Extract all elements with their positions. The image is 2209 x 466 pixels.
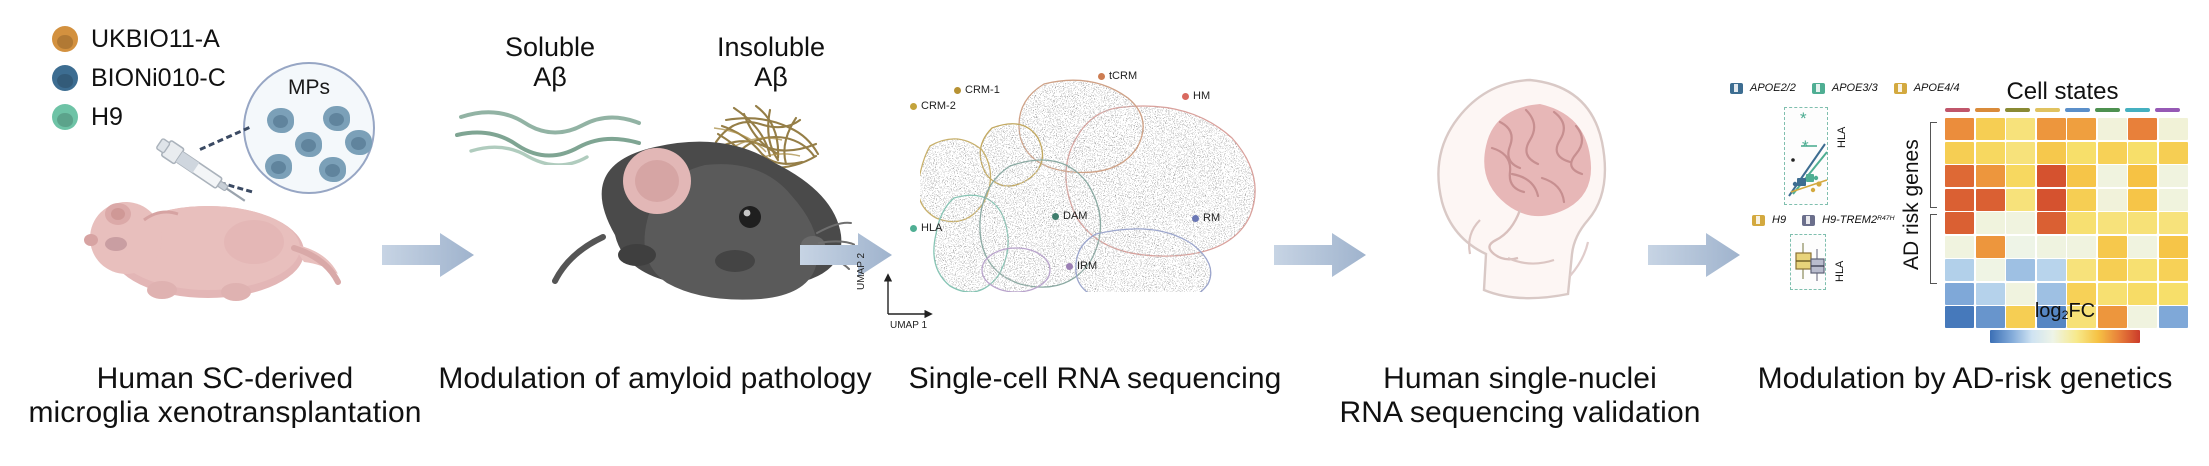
arrow-step-1 [382, 232, 474, 278]
heatmap-col-marker-6 [2125, 108, 2150, 112]
heatmap-cell [2128, 212, 2157, 234]
h9-trem2-label: H9-TREM2R47H [1822, 214, 1894, 226]
insoluble-abeta-line1: Insoluble [676, 32, 866, 62]
heatmap-cell [2037, 212, 2066, 234]
heatmap-col-marker-2 [2005, 108, 2030, 112]
panel1-caption-line1: Human SC-derived [10, 362, 440, 396]
heatmap-cell [2006, 236, 2035, 258]
heatmap-col-marker-7 [2155, 108, 2180, 112]
heatmap-cell [2159, 189, 2188, 211]
trem2-boxplot [1791, 235, 1827, 291]
heatmap-cell [2037, 189, 2066, 211]
panel4-caption-line1: Human single-nuclei [1300, 362, 1740, 396]
arrow-step-2 [800, 232, 892, 278]
heatmap-cell [2159, 306, 2188, 328]
legend-item: H9 [52, 102, 226, 132]
heatmap-cell [2098, 165, 2127, 187]
apoe22-label: APOE2/2 [1750, 82, 1796, 94]
trem2-superscript: R47H [1877, 215, 1894, 222]
heatmap-cell [1976, 212, 2005, 234]
figure-root: UKBIO11-A BIONi010-C H9 MPs [0, 0, 2209, 466]
panel4-caption: Human single-nuclei RNA sequencing valid… [1300, 362, 1740, 429]
adult-mouse-icon [545, 105, 855, 310]
heatmap-cell [2067, 189, 2096, 211]
panel1-caption: Human SC-derived microglia xenotransplan… [10, 362, 440, 429]
heatmap-col-marker-4 [2065, 108, 2090, 112]
heatmap-cell [2098, 118, 2127, 140]
significance-star-top: * [1800, 110, 1807, 127]
heatmap-cell [1976, 142, 2005, 164]
heatmap-cell [1945, 165, 1974, 187]
heatmap-scale-label: log2FC [1990, 300, 2140, 323]
cell-line-dot-ukbio11a [52, 26, 78, 52]
microglia-cell-icon [323, 106, 350, 131]
soluble-abeta-label: Soluble Aβ [460, 32, 640, 92]
heatmap-cell [2006, 118, 2035, 140]
umap-cluster-label-dam: DAM [1052, 210, 1087, 222]
apoe33-chip [1812, 83, 1825, 94]
heatmap-cell [1945, 118, 1974, 140]
insoluble-abeta-label: Insoluble Aβ [676, 32, 866, 92]
apoe44-chip [1894, 83, 1907, 94]
hla-axis-label-top: HLA [1836, 127, 1848, 148]
umap-x-axis-label: UMAP 1 [890, 320, 927, 331]
heatmap-cell [1945, 142, 1974, 164]
heatmap-cell [1976, 118, 2005, 140]
h9-trem2-chip [1802, 215, 1815, 226]
heatmap-cell [1945, 212, 1974, 234]
heatmap-cell [2128, 142, 2157, 164]
heatmap-color-scale [1990, 330, 2140, 343]
heatmap-title: Cell states [1945, 78, 2180, 106]
apoe-legend: APOE2/2 APOE3/3 APOE4/4 [1730, 82, 1960, 94]
soluble-abeta-line2: Aβ [460, 62, 640, 92]
panel4-caption-line2: RNA sequencing validation [1300, 396, 1740, 430]
heatmap-cell [2037, 142, 2066, 164]
heatmap-cell [2067, 236, 2096, 258]
heatmap-cell [2006, 189, 2035, 211]
heatmap-cell [2128, 259, 2157, 281]
heatmap-cell [2128, 165, 2157, 187]
heatmap-cell [2037, 165, 2066, 187]
heatmap-col-marker-1 [1975, 108, 2000, 112]
heatmap-cell [2128, 189, 2157, 211]
heatmap-cell [1976, 189, 2005, 211]
heatmap-column-color-bar [1945, 108, 2180, 112]
heatmap-cell [2098, 212, 2127, 234]
microglia-cell-icon [267, 108, 294, 133]
cell-line-label: UKBIO11-A [91, 25, 220, 54]
human-head-brain-icon [1380, 70, 1640, 300]
umap-cluster-label-hla: HLA [910, 222, 942, 234]
heatmap-cell [2067, 212, 2096, 234]
heatmap-cell [2037, 236, 2066, 258]
panel3-caption: Single-cell RNA sequencing [880, 362, 1310, 396]
heatmap-cell [2006, 212, 2035, 234]
heatmap-cell [2098, 259, 2127, 281]
heatmap-cell [1945, 236, 1974, 258]
heatmap-cell [1945, 189, 1974, 211]
heatmap-cell [2006, 165, 2035, 187]
umap-cluster-label-crm2: CRM-2 [910, 100, 956, 112]
heatmap-col-marker-3 [2035, 108, 2060, 112]
heatmap-cell [2159, 236, 2188, 258]
cell-line-dot-h9 [52, 104, 78, 130]
umap-cluster-label-hm: HM [1182, 90, 1210, 102]
gene-group-bracket-1 [1930, 122, 1937, 208]
cell-line-label: BIONi010-C [91, 64, 226, 93]
heatmap-cell [1945, 306, 1974, 328]
heatmap-cell [2067, 118, 2096, 140]
umap-cluster-label-rm: RM [1192, 212, 1220, 224]
apoe33-label: APOE3/3 [1832, 82, 1878, 94]
umap-plot: CRM-2 CRM-1 tCRM HM HLA DAM RM IRM [920, 62, 1300, 292]
heatmap-col-marker-0 [1945, 108, 1970, 112]
umap-cluster-label-tcrm: tCRM [1098, 70, 1137, 82]
trem2-legend: H9 H9-TREM2R47H [1752, 214, 1895, 226]
heatmap-cell [1976, 165, 2005, 187]
h9-chip [1752, 215, 1765, 226]
heatmap-cell [2159, 142, 2188, 164]
heatmap-cell [2006, 259, 2035, 281]
apoe-scatter-plot [1785, 108, 1829, 206]
mps-label: MPs [245, 76, 373, 100]
heatmap-cell [2067, 142, 2096, 164]
insoluble-abeta-line2: Aβ [676, 62, 866, 92]
heatmap-cell [1945, 283, 1974, 305]
umap-cluster-label-irm: IRM [1066, 260, 1097, 272]
heatmap-cell [2159, 283, 2188, 305]
cell-line-dot-bioni010c [52, 65, 78, 91]
h9-label: H9 [1772, 214, 1786, 226]
heatmap-cell [1976, 236, 2005, 258]
heatmap-cell [2159, 165, 2188, 187]
heatmap-cell [2037, 259, 2066, 281]
panel5-caption: Modulation by AD-risk genetics [1730, 362, 2200, 396]
hla-axis-label-bottom: HLA [1834, 261, 1846, 282]
mouse-pup-icon [58, 178, 358, 318]
arrow-step-4 [1648, 232, 1740, 278]
heatmap-cell [2037, 118, 2066, 140]
legend-item: BIONi010-C [52, 63, 226, 93]
heatmap-cell [1945, 259, 1974, 281]
microglia-cell-icon [345, 130, 372, 155]
umap-scatter [920, 62, 1300, 292]
heatmap-cell [2159, 212, 2188, 234]
heatmap-cell [2128, 236, 2157, 258]
cell-line-legend: UKBIO11-A BIONi010-C H9 [52, 24, 226, 141]
heatmap-cell [2098, 189, 2127, 211]
heatmap-cell [2128, 118, 2157, 140]
umap-y-axis-label: UMAP 2 [856, 253, 867, 290]
heatmap-cell [2067, 259, 2096, 281]
heatmap-y-axis-label: AD risk genes [1900, 139, 1924, 270]
apoe22-chip [1730, 83, 1743, 94]
arrow-step-3 [1274, 232, 1366, 278]
umap-cluster-label-crm1: CRM-1 [954, 84, 1000, 96]
panel1-caption-line2: microglia xenotransplantation [10, 396, 440, 430]
microglia-progenitor-bubble: MPs [243, 62, 375, 194]
microglia-cell-icon [265, 154, 292, 179]
heatmap-cell [1976, 259, 2005, 281]
umap-axes [880, 268, 940, 320]
trem2-box-panel [1790, 234, 1826, 290]
heatmap-col-marker-5 [2095, 108, 2120, 112]
heatmap-cell [2098, 142, 2127, 164]
gene-group-bracket-2 [1930, 214, 1937, 284]
soluble-abeta-line1: Soluble [460, 32, 640, 62]
heatmap-cell [2159, 118, 2188, 140]
heatmap-cell [2006, 142, 2035, 164]
heatmap-cell [2098, 236, 2127, 258]
legend-item: UKBIO11-A [52, 24, 226, 54]
heatmap-grid [1945, 118, 2188, 328]
cell-line-label: H9 [91, 103, 123, 132]
microglia-cell-icon [295, 132, 322, 157]
heatmap-cell [2159, 259, 2188, 281]
significance-star-mid: * [1802, 138, 1809, 155]
panel2-caption: Modulation of amyloid pathology [420, 362, 890, 396]
heatmap-cell [2067, 165, 2096, 187]
